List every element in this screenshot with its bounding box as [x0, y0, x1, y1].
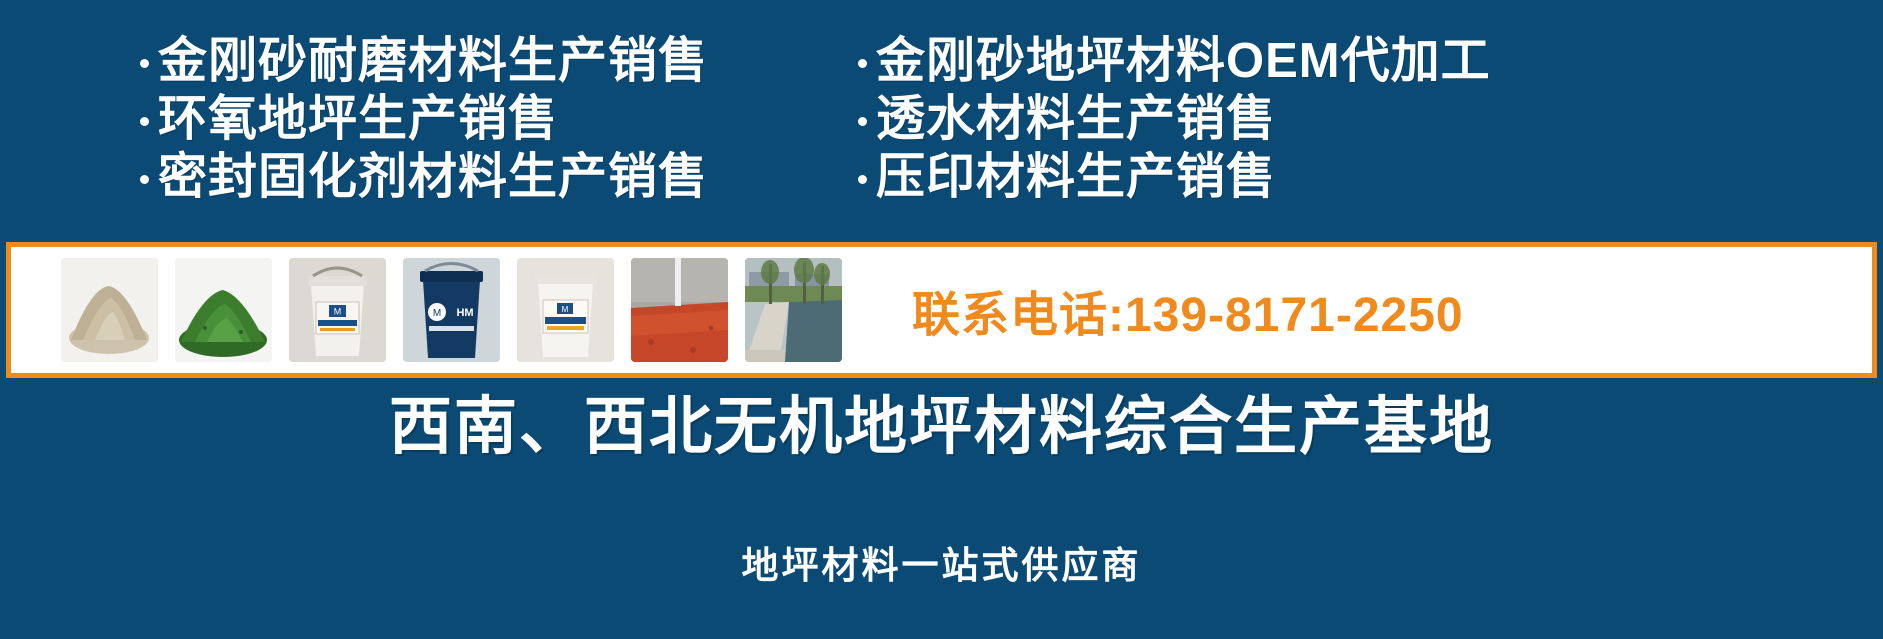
svg-text:M: M: [562, 305, 569, 314]
green-powder-photo: [175, 258, 272, 362]
product-thumbnail-list: M M HM: [11, 258, 842, 362]
red-permeable-paving-photo: [631, 258, 728, 362]
bullet-icon: [140, 175, 149, 184]
blue-bucket-photo: M HM: [403, 258, 500, 362]
feature-label: 压印材料生产销售: [876, 148, 1276, 206]
bullet-icon: [858, 175, 867, 184]
product-strip: M M HM: [6, 242, 1877, 378]
white-bucket-two-photo: M: [517, 258, 614, 362]
headline-main: 西南、西北无机地坪材料综合生产基地: [0, 388, 1883, 466]
feature-label: 密封固化剂材料生产销售: [158, 148, 708, 206]
feature-label: 透水材料生产销售: [876, 90, 1276, 148]
white-bucket-photo: M: [289, 258, 386, 362]
feature-item: 密封固化剂材料生产销售: [140, 148, 740, 206]
feature-item: 透水材料生产销售: [858, 90, 1770, 148]
contact-phone[interactable]: 联系电话:139-8171-2250: [912, 275, 1464, 345]
feature-column-right: 金刚砂地坪材料OEM代加工 透水材料生产销售 压印材料生产销售: [740, 32, 1770, 206]
svg-text:HM: HM: [456, 307, 473, 319]
feature-label: 环氧地坪生产销售: [158, 90, 558, 148]
feature-column-left: 金刚砂耐磨材料生产销售 环氧地坪生产销售 密封固化剂材料生产销售: [0, 32, 740, 206]
bullet-icon: [140, 59, 149, 68]
promo-banner: 金刚砂耐磨材料生产销售 环氧地坪生产销售 密封固化剂材料生产销售 金刚砂地坪材料…: [0, 0, 1883, 639]
svg-text:M: M: [334, 307, 342, 317]
grey-powder-photo: [61, 258, 158, 362]
feature-label: 金刚砂耐磨材料生产销售: [158, 32, 708, 90]
feature-item: 金刚砂地坪材料OEM代加工: [858, 32, 1770, 90]
feature-item: 环氧地坪生产销售: [140, 90, 740, 148]
feature-lists: 金刚砂耐磨材料生产销售 环氧地坪生产销售 密封固化剂材料生产销售 金刚砂地坪材料…: [0, 32, 1883, 232]
bullet-icon: [858, 117, 867, 126]
bullet-icon: [140, 117, 149, 126]
svg-text:M: M: [433, 308, 441, 319]
stamped-pavement-photo: [745, 258, 842, 362]
feature-item: 压印材料生产销售: [858, 148, 1770, 206]
bullet-icon: [858, 59, 867, 68]
feature-item: 金刚砂耐磨材料生产销售: [140, 32, 740, 90]
headline-sub: 地坪材料一站式供应商: [0, 543, 1883, 589]
feature-label: 金刚砂地坪材料OEM代加工: [876, 32, 1491, 90]
